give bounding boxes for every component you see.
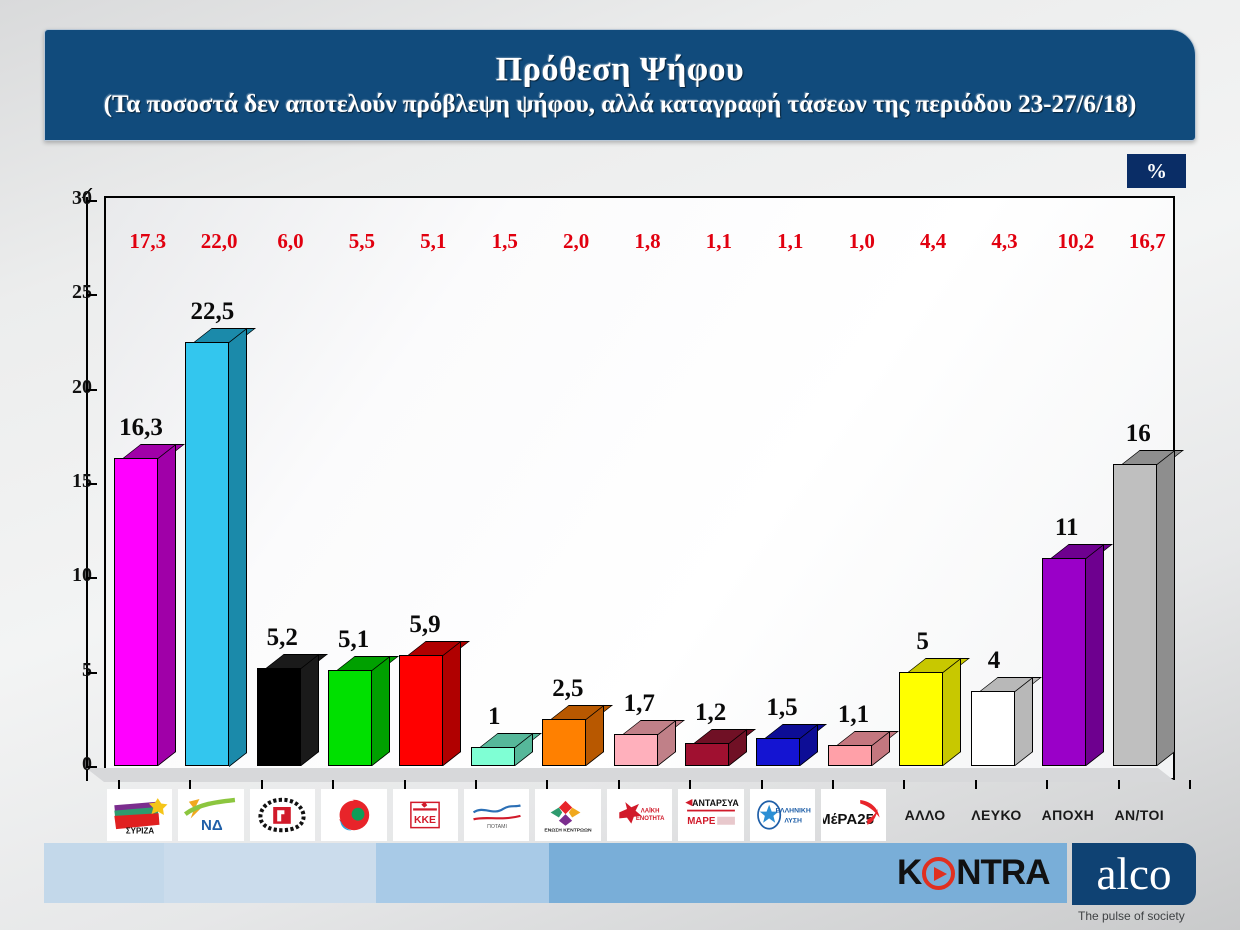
category-label-8[interactable]: ΛΑΪΚΗΕΝΟΤΗΤΑ [607, 789, 672, 841]
bar-side-face [1015, 676, 1033, 766]
bar-value-label: 11 [1055, 514, 1079, 542]
bar-side-face [301, 654, 319, 766]
y-axis-tick-label: 20 [52, 376, 92, 399]
party-logo-icon: ΣΥΡΙΖΑ [107, 789, 172, 841]
bar-value-label: 1,1 [838, 701, 869, 729]
bar[interactable]: 1,2 [685, 743, 729, 766]
svg-text:ΕΛΛΗΝΙΚΗ: ΕΛΛΗΝΙΚΗ [776, 807, 811, 814]
x-axis-tick [118, 780, 120, 789]
bar-value-label: 1,5 [766, 694, 797, 722]
page-title: Πρόθεση Ψήφου [496, 52, 744, 88]
footer: K NTRA alco The pulse of society [0, 843, 1240, 930]
kontra-logo-ntra: NTRA [956, 853, 1049, 893]
category-label-12[interactable]: ΑΛΛΟ [892, 789, 957, 841]
y-axis-tick-label: 25 [52, 281, 92, 304]
category-label-7[interactable]: ΕΝΩΣΗ ΚΕΝΤΡΩΩΝ [535, 789, 600, 841]
x-axis-tick [189, 780, 191, 789]
x-axis-tick [761, 780, 763, 789]
category-text: ΛΕΥΚΟ [971, 807, 1021, 823]
bar-side-face [1157, 450, 1175, 766]
bar-value-label: 5,9 [409, 611, 440, 639]
y-axis-tick-label: 5 [52, 659, 92, 682]
bar-front-face [114, 458, 158, 766]
svg-text:ΕΝΩΣΗ ΚΕΝΤΡΩΩΝ: ΕΝΩΣΗ ΚΕΝΤΡΩΩΝ [544, 828, 592, 834]
bar-side-face [943, 658, 961, 766]
bar[interactable]: 1,7 [614, 734, 658, 766]
svg-text:MέPA25: MέPA25 [823, 811, 874, 828]
bar[interactable]: 1 [471, 747, 515, 766]
party-logo-icon [250, 789, 315, 841]
category-label-3[interactable] [250, 789, 315, 841]
category-label-11[interactable]: MέPA25 [821, 789, 886, 841]
bar[interactable]: 22,5 [185, 342, 229, 767]
bar-side-face [372, 656, 390, 766]
party-logo-icon: MέPA25 [821, 789, 886, 841]
y-axis-tick-label: 10 [52, 564, 92, 587]
x-axis-tick [618, 780, 620, 789]
party-logo-icon: ΕΛΛΗΝΙΚΗΛΥΣΗ [750, 789, 815, 841]
bar-value-label: 1,7 [624, 690, 655, 718]
bar-front-face [185, 342, 229, 767]
bar[interactable]: 1,1 [828, 745, 872, 766]
y-axis-tick-label: 0 [52, 753, 92, 776]
bar[interactable]: 5,2 [257, 668, 301, 766]
x-axis-ticks [104, 780, 1194, 789]
x-axis-tick [1046, 780, 1048, 789]
party-logo-icon: ΛΑΪΚΗΕΝΟΤΗΤΑ [607, 789, 672, 841]
bar-side-face [229, 327, 247, 766]
x-axis-tick [903, 780, 905, 789]
bar-side-face [158, 444, 176, 766]
bar-value-label: 5,1 [338, 626, 369, 654]
bar[interactable]: 16,3 [114, 458, 158, 766]
bar-value-label: 5 [916, 628, 929, 656]
bar-value-label: 2,5 [552, 675, 583, 703]
y-axis-tick-label: 30 [52, 187, 92, 210]
bar-front-face [828, 745, 872, 766]
category-text: ΑΝ/ΤΟΙ [1114, 807, 1164, 823]
y-axis-tick-mark [88, 766, 97, 768]
y-axis-tick-mark [88, 577, 97, 579]
kontra-play-icon [922, 857, 955, 890]
x-axis-tick [832, 780, 834, 789]
alco-tagline: The pulse of society [1078, 909, 1185, 923]
footer-color-block [164, 843, 376, 903]
bar-value-label: 1,2 [695, 699, 726, 727]
party-logo-icon: ΝΔ [178, 789, 243, 841]
svg-text:ΝΔ: ΝΔ [201, 817, 223, 834]
bar[interactable]: 5 [899, 672, 943, 766]
svg-text:ΜΑΡΕ: ΜΑΡΕ [687, 816, 716, 827]
alco-logo-text: alco [1097, 852, 1172, 897]
y-axis-tick-mark [88, 389, 97, 391]
category-label-14[interactable]: ΑΠΟΧΗ [1035, 789, 1100, 841]
bar-chart: 051015202530 17,322,06,05,55,11,52,01,81… [58, 188, 1186, 798]
party-logo-icon: ΚΚΕ [393, 789, 458, 841]
y-axis-tick-label: 15 [52, 470, 92, 493]
bar-front-face [257, 668, 301, 766]
bar[interactable]: 4 [971, 691, 1015, 766]
svg-text:ΑΝΤΑΡΣΥΑ: ΑΝΤΑΡΣΥΑ [692, 798, 739, 808]
svg-text:ΣΥΡΙΖΑ: ΣΥΡΙΖΑ [126, 827, 154, 836]
x-axis-tick [546, 780, 548, 789]
x-axis-tick [332, 780, 334, 789]
x-axis-tick [475, 780, 477, 789]
category-axis: ΣΥΡΙΖΑΝΔΚΚΕΠΟΤΑΜΙΕΝΩΣΗ ΚΕΝΤΡΩΩΝΛΑΪΚΗΕΝΟΤ… [58, 789, 1186, 843]
bar-front-face [399, 655, 443, 766]
category-label-13[interactable]: ΛΕΥΚΟ [964, 789, 1029, 841]
bar[interactable]: 5,9 [399, 655, 443, 766]
svg-text:ΕΝΟΤΗΤΑ: ΕΝΟΤΗΤΑ [636, 816, 665, 822]
category-text: ΑΠΟΧΗ [1042, 807, 1095, 823]
bar-value-label: 16,3 [119, 414, 163, 442]
alco-logo: alco [1072, 843, 1196, 905]
category-label-4[interactable] [321, 789, 386, 841]
party-logo-icon: ΠΟΤΑΜΙ [464, 789, 529, 841]
bar-value-label: 22,5 [190, 298, 234, 326]
bar-front-face [1042, 558, 1086, 766]
party-logo-icon: ΑΝΤΑΡΣΥΑΜΑΡΕ [678, 789, 743, 841]
bar[interactable]: 5,1 [328, 670, 372, 766]
category-label-15[interactable]: ΑΝ/ΤΟΙ [1107, 789, 1172, 841]
category-label-2[interactable]: ΝΔ [178, 789, 243, 841]
bar-value-label: 5,2 [267, 624, 298, 652]
bar-front-face [471, 747, 515, 766]
bar[interactable]: 1,5 [756, 738, 800, 766]
x-axis-tick [975, 780, 977, 789]
svg-text:ΚΚΕ: ΚΚΕ [414, 815, 436, 826]
y-axis-tick-mark [88, 483, 97, 485]
party-logo-icon: ΕΝΩΣΗ ΚΕΝΤΡΩΩΝ [535, 789, 600, 841]
y-axis-tick-mark [88, 672, 97, 674]
x-axis-tick [689, 780, 691, 789]
bar-front-face [971, 691, 1015, 766]
bar-front-face [1113, 464, 1157, 766]
category-label-9[interactable]: ΑΝΤΑΡΣΥΑΜΑΡΕ [678, 789, 743, 841]
svg-text:ΛΥΣΗ: ΛΥΣΗ [785, 818, 803, 825]
bar[interactable]: 2,5 [542, 719, 586, 766]
bar-front-face [685, 743, 729, 766]
bar-front-face [899, 672, 943, 766]
svg-text:ΛΑΪΚΗ: ΛΑΪΚΗ [641, 807, 660, 814]
percent-unit-badge: % [1127, 154, 1186, 188]
bar-value-label: 4 [988, 647, 1001, 675]
bars-group: 16,322,55,25,15,912,51,71,21,51,1541116 [104, 196, 1175, 780]
party-logo-icon [321, 789, 386, 841]
category-label-5[interactable]: ΚΚΕ [393, 789, 458, 841]
category-label-10[interactable]: ΕΛΛΗΝΙΚΗΛΥΣΗ [750, 789, 815, 841]
title-banner: Πρόθεση Ψήφου (Τα ποσοστά δεν αποτελούν … [44, 29, 1196, 141]
bar-front-face [328, 670, 372, 766]
bar-front-face [756, 738, 800, 766]
x-axis-tick [1189, 780, 1191, 789]
page-subtitle: (Τα ποσοστά δεν αποτελούν πρόβλεψη ψήφου… [104, 91, 1137, 119]
bar-value-label: 1 [488, 703, 501, 731]
svg-text:ΠΟΤΑΜΙ: ΠΟΤΑΜΙ [487, 824, 507, 830]
x-axis-tick [1118, 780, 1120, 789]
y-axis-tick-mark [88, 294, 97, 296]
bar[interactable]: 11 [1042, 558, 1086, 766]
category-text: ΑΛΛΟ [905, 807, 946, 823]
footer-color-block [44, 843, 164, 903]
bar-side-face [443, 641, 461, 766]
bar-front-face [614, 734, 658, 766]
kontra-logo: K NTRA [897, 853, 1050, 893]
x-axis-tick [404, 780, 406, 789]
category-label-1[interactable]: ΣΥΡΙΖΑ [107, 789, 172, 841]
x-axis-tick [261, 780, 263, 789]
y-axis-tick-mark [88, 200, 97, 202]
bar-value-label: 16 [1126, 420, 1151, 448]
kontra-logo-k: K [897, 853, 921, 893]
bar[interactable]: 16 [1113, 464, 1157, 766]
bar-side-face [1086, 544, 1104, 766]
category-label-6[interactable]: ΠΟΤΑΜΙ [464, 789, 529, 841]
bar-front-face [542, 719, 586, 766]
